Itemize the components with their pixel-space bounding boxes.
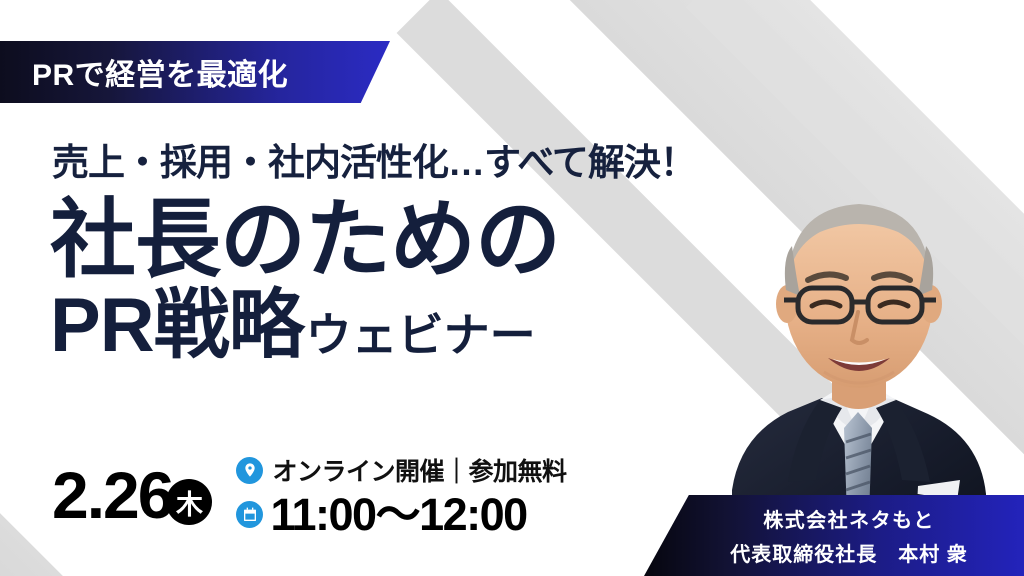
location-pin-icon (236, 457, 263, 484)
title-main: PR戦略 (50, 284, 304, 368)
time-label: 11:00〜12:00 (270, 491, 526, 538)
speaker-name: 代表取締役社長 本村 衆 (730, 538, 968, 567)
weekday-badge: 木 (166, 479, 212, 525)
headline-block: 売上・採用・社内活性化…すべて解決！ 社長のための PR戦略 ウェビナー (0, 132, 800, 368)
event-info-row: 2.26 木 オンライン開催｜参加無料 11:00〜12:00 (52, 452, 566, 538)
title-line-1: 社長のための (50, 192, 800, 288)
top-tag-banner: PRで経営を最適化 (0, 41, 390, 103)
speaker-credit-bar: 株式会社ネタもと 代表取締役社長 本村 衆 (644, 495, 1024, 576)
event-date: 2.26 (52, 462, 172, 528)
event-details-group: オンライン開催｜参加無料 11:00〜12:00 (236, 452, 566, 538)
title-line-2: PR戦略 ウェビナー (50, 284, 800, 368)
event-date-group: 2.26 木 (52, 462, 212, 528)
title-suffix: ウェビナー (306, 299, 536, 365)
subheadline: 売上・採用・社内活性化…すべて解決！ (52, 132, 800, 186)
venue-line: オンライン開催｜参加無料 (236, 452, 566, 488)
calendar-icon (236, 501, 263, 528)
time-line: 11:00〜12:00 (236, 491, 566, 538)
top-tag-label: PRで経営を最適化 (32, 50, 288, 94)
speaker-company: 株式会社ネタもと (763, 504, 935, 533)
venue-label: オンライン開催｜参加無料 (272, 452, 566, 488)
